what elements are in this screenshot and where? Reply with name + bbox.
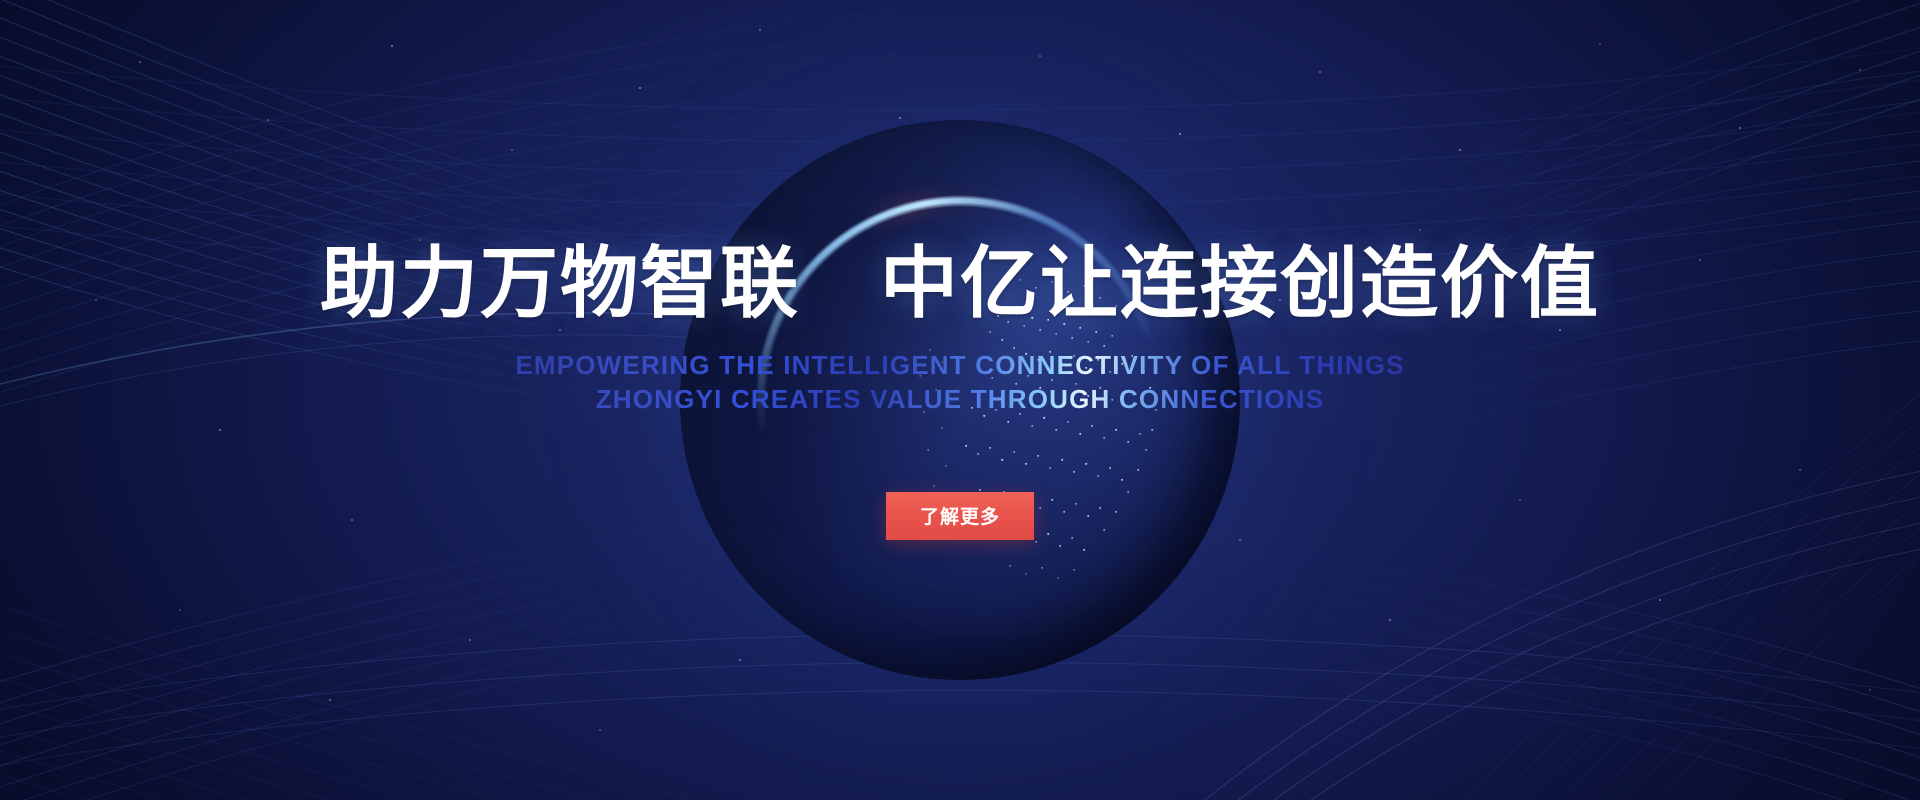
hero-subtitle: EMPOWERING THE INTELLIGENT CONNECTIVITY … (515, 349, 1404, 417)
learn-more-button[interactable]: 了解更多 (886, 492, 1034, 540)
hero-banner: 助力万物智联 中亿让连接创造价值 EMPOWERING THE INTELLIG… (0, 0, 1920, 800)
subtitle-line-1: EMPOWERING THE INTELLIGENT CONNECTIVITY … (515, 350, 1404, 380)
hero-content: 助力万物智联 中亿让连接创造价值 EMPOWERING THE INTELLIG… (0, 0, 1920, 800)
subtitle-line-2: ZHONGYI CREATES VALUE THROUGH CONNECTION… (515, 383, 1404, 417)
page-title: 助力万物智联 中亿让连接创造价值 (320, 245, 1600, 323)
